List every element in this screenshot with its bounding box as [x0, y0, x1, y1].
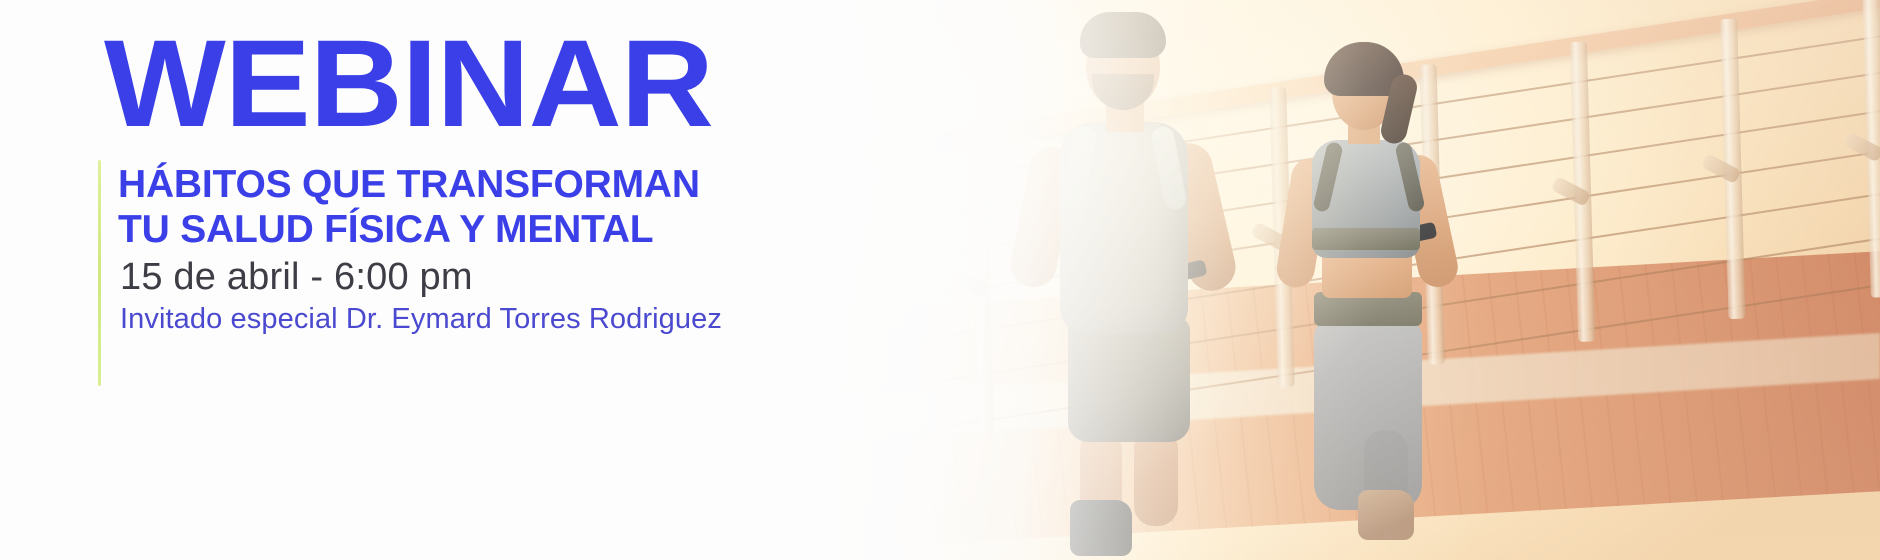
- banner-text-block: WEBINAR HÁBITOS QUE TRANSFORMAN TU SALUD…: [100, 0, 920, 560]
- subtitle-line-1: HÁBITOS QUE TRANSFORMAN: [118, 163, 700, 208]
- banner-subtitle: HÁBITOS QUE TRANSFORMAN TU SALUD FÍSICA …: [118, 163, 700, 253]
- male-runner-right-leg: [1134, 428, 1178, 526]
- event-datetime: 15 de abril - 6:00 pm: [120, 256, 473, 299]
- male-runner-hair: [1080, 12, 1166, 58]
- male-runner-shoe: [1070, 500, 1132, 556]
- special-guest-speaker: Invitado especial Dr. Eymard Torres Rodr…: [120, 303, 722, 336]
- male-runner-shorts: [1068, 318, 1190, 442]
- accent-bar: [98, 160, 101, 386]
- page-title: WEBINAR: [104, 22, 713, 146]
- female-runner-bra-band: [1312, 228, 1420, 250]
- subtitle-line-2: TU SALUD FÍSICA Y MENTAL: [118, 208, 700, 253]
- male-runner: [968, 0, 1268, 560]
- female-runner-shoe: [1358, 490, 1414, 540]
- webinar-banner: WEBINAR HÁBITOS QUE TRANSFORMAN TU SALUD…: [0, 0, 1880, 560]
- male-runner-beard: [1092, 74, 1154, 110]
- female-runner: [1236, 0, 1512, 560]
